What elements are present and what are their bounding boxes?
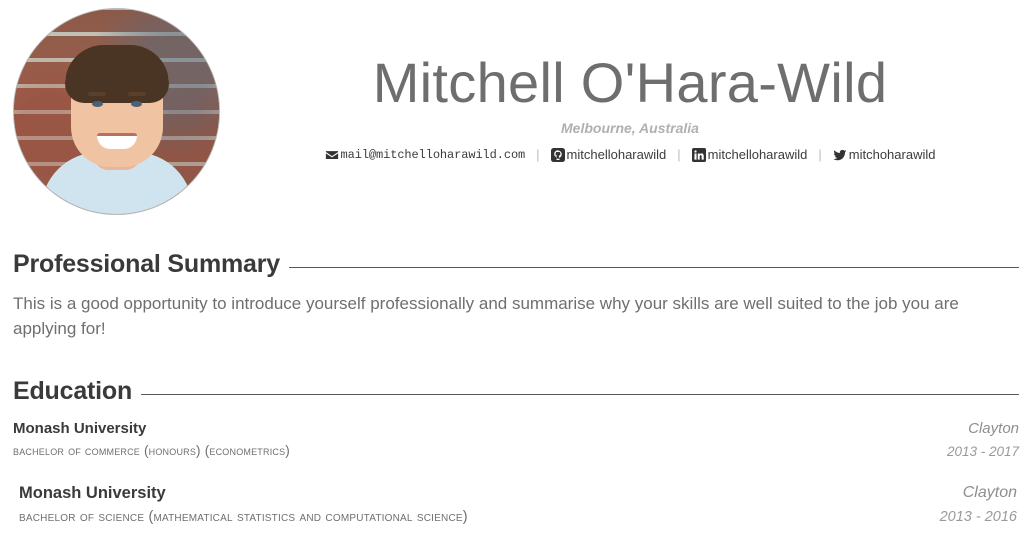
section-professional-summary: Professional Summary This is a good oppo… <box>0 250 1032 341</box>
education-dates: 2013 - 2017 <box>947 444 1019 459</box>
education-degree: Bachelor of Commerce (Honours) (Economet… <box>13 443 290 458</box>
github-icon <box>551 148 565 162</box>
section-title-professional-summary: Professional Summary <box>13 250 280 279</box>
education-location: Clayton <box>940 484 1017 502</box>
education-institution: Monash University <box>13 420 290 437</box>
professional-summary-body: This is a good opportunity to introduce … <box>13 292 1019 341</box>
page-title: Mitchell O'Hara-Wild <box>240 50 1020 116</box>
education-institution: Monash University <box>19 484 468 503</box>
person-eyebrow-left <box>88 92 106 96</box>
education-entry-main: Monash University Bachelor of Science (M… <box>19 484 468 525</box>
contact-separator: | <box>807 147 832 162</box>
section-rule <box>289 267 1019 268</box>
person-smile <box>97 133 137 149</box>
resume-header: Mitchell O'Hara-Wild Melbourne, Australi… <box>0 0 1032 222</box>
education-entry-meta: Clayton 2013 - 2017 <box>947 420 1019 459</box>
contact-row: mail@mitchelloharawild.com | mitchelloha… <box>240 147 1020 162</box>
section-header: Professional Summary <box>13 250 1019 279</box>
header-subtitle: Melbourne, Australia <box>240 120 1020 136</box>
contact-github-label: mitchelloharawild <box>567 147 667 162</box>
contact-linkedin-label: mitchelloharawild <box>708 147 808 162</box>
envelope-icon <box>325 148 339 162</box>
section-education: Education Monash University Bachelor of … <box>0 377 1032 525</box>
education-degree: Bachelor of Science (Mathematical Statis… <box>19 509 468 525</box>
section-rule <box>141 394 1019 395</box>
section-header: Education <box>13 377 1019 406</box>
header-main: Mitchell O'Hara-Wild Melbourne, Australi… <box>240 0 1020 162</box>
person-hair <box>65 45 169 103</box>
contact-twitter[interactable]: mitchoharawild <box>833 147 936 162</box>
education-dates: 2013 - 2016 <box>940 509 1017 525</box>
avatar <box>13 8 220 215</box>
contact-twitter-label: mitchoharawild <box>849 147 936 162</box>
person-eye-left <box>92 101 103 107</box>
contact-github[interactable]: mitchelloharawild <box>551 147 667 162</box>
contact-separator: | <box>525 147 550 162</box>
contact-email-label: mail@mitchelloharawild.com <box>341 148 526 162</box>
education-entry-meta: Clayton 2013 - 2016 <box>940 484 1017 525</box>
person-eyebrow-right <box>128 92 146 96</box>
linkedin-icon <box>692 148 706 162</box>
education-entry: Monash University Bachelor of Science (M… <box>13 484 1019 525</box>
person-eye-right <box>131 101 142 107</box>
section-title-education: Education <box>13 377 132 406</box>
education-location: Clayton <box>947 420 1019 437</box>
twitter-icon <box>833 148 847 162</box>
contact-linkedin[interactable]: mitchelloharawild <box>692 147 808 162</box>
avatar-background-brick-wall <box>14 9 219 214</box>
education-entry-main: Monash University Bachelor of Commerce (… <box>13 420 290 458</box>
contact-separator: | <box>666 147 691 162</box>
contact-email[interactable]: mail@mitchelloharawild.com <box>325 148 526 162</box>
education-entry: Monash University Bachelor of Commerce (… <box>13 420 1019 459</box>
